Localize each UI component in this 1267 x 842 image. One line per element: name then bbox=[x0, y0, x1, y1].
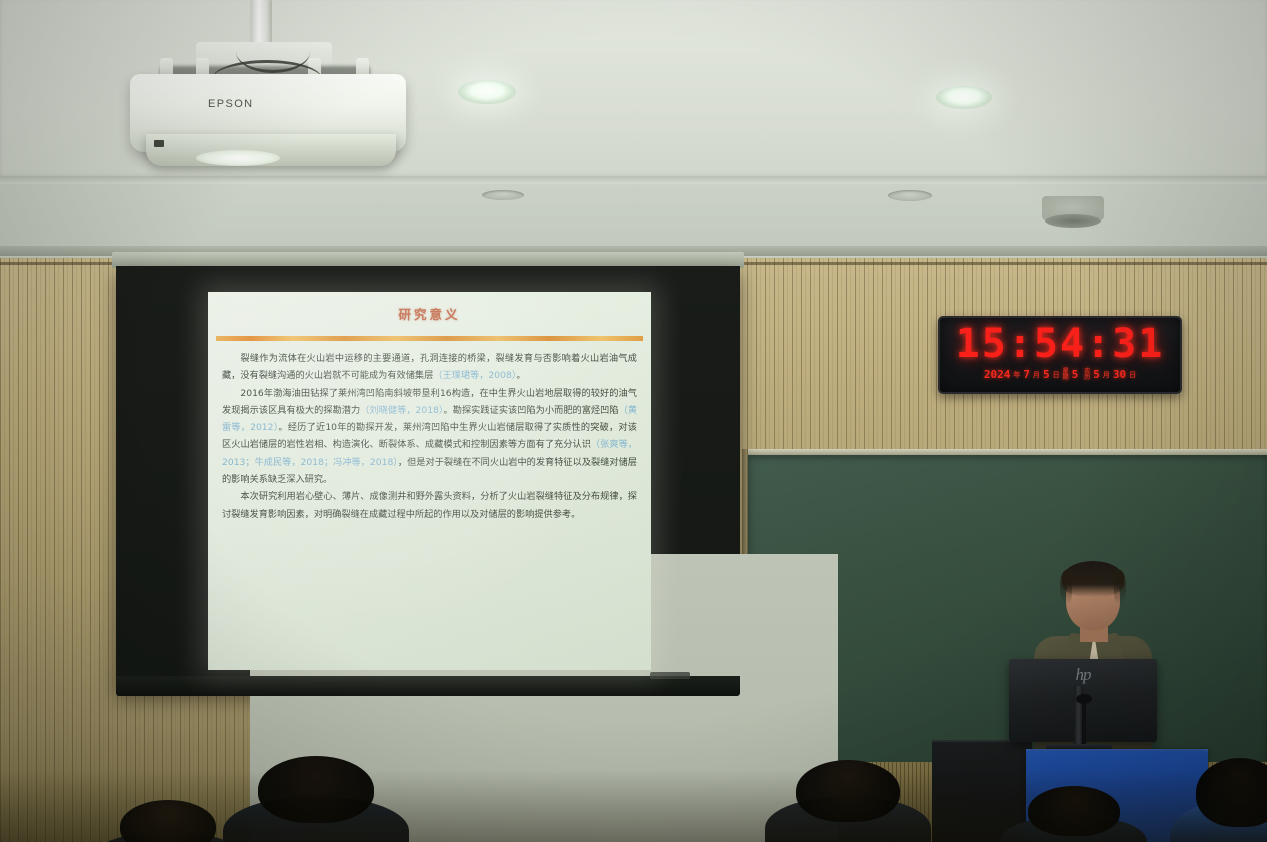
microphone-icon bbox=[1076, 694, 1092, 704]
audience-member bbox=[258, 756, 374, 834]
audience-member bbox=[1196, 758, 1267, 838]
slide-paragraph: 2016年渤海油田钻探了莱州湾凹陷南斜坡带垦利16构造，在中生界火山岩地层取得的… bbox=[222, 385, 637, 489]
clock-day: 5 bbox=[1043, 368, 1050, 381]
audience-head bbox=[1196, 758, 1267, 827]
projector-lens bbox=[196, 150, 280, 166]
ceiling-downlight bbox=[936, 86, 992, 109]
ceiling-speaker-shadow bbox=[1045, 214, 1101, 228]
screen-weight-bar bbox=[116, 676, 740, 696]
slide-citation: （王璞珺等，2008） bbox=[433, 370, 516, 381]
led-wall-clock: 15:54:31 2024年7月5日星期5 农历5月30日 bbox=[938, 316, 1182, 394]
audience-member bbox=[796, 760, 900, 832]
clock-year-unit: 年 bbox=[1013, 370, 1020, 380]
slide-title: 研究意义 bbox=[208, 304, 651, 323]
clock-month-unit: 月 bbox=[1033, 370, 1040, 380]
slide-citation: （刘晓健等，2018） bbox=[360, 405, 443, 416]
slide-text-run: 。经历了近10年的勘探开发，莱州湾凹陷中生界火山岩储层取得了实质性的突破，对该区… bbox=[222, 422, 637, 450]
clock-lunar-day-unit: 日 bbox=[1129, 370, 1136, 380]
audience-head bbox=[1028, 786, 1120, 836]
slide-text-run: 本次研究利用岩心壁心、薄片、成像测井和野外露头资料，分析了火山岩裂缝特征及分布规… bbox=[222, 491, 637, 519]
slide-body-text: 裂缝作为流体在火山岩中运移的主要通道，孔洞连接的桥梁，裂缝发育与否影响着火山岩油… bbox=[222, 350, 637, 523]
clock-date-display: 2024年7月5日星期5 农历5月30日 bbox=[940, 368, 1180, 381]
speaker-hair-side bbox=[1060, 570, 1072, 604]
projector-brand-label: EPSON bbox=[208, 98, 254, 110]
clock-lunar-label: 农历 bbox=[1084, 369, 1090, 381]
speaker-hair-side bbox=[1114, 570, 1126, 604]
screen-pull-tab[interactable] bbox=[650, 672, 690, 679]
projector-pole bbox=[250, 0, 272, 46]
hp-logo-icon: hp bbox=[1009, 665, 1157, 685]
slide-paragraph: 裂缝作为流体在火山岩中运移的主要通道，孔洞连接的桥梁，裂缝发育与否影响着火山岩油… bbox=[222, 350, 637, 385]
clock-time-display: 15:54:31 bbox=[940, 321, 1180, 367]
ceiling-recessed-fitting bbox=[482, 190, 524, 200]
audience-member bbox=[120, 800, 216, 842]
audience-member bbox=[1028, 786, 1120, 842]
ceiling-step bbox=[0, 176, 1267, 184]
lecture-hall-photo: EPSON 研究意义 裂缝作为流体在火山岩中运移的主要通道，孔洞连接的桥梁，裂缝… bbox=[0, 0, 1267, 842]
clock-month: 7 bbox=[1023, 368, 1030, 381]
clock-year: 2024 bbox=[984, 368, 1011, 381]
slide-text-run: 。勘探实践证实该凹陷为小而肥的富烃凹陷 bbox=[444, 405, 619, 416]
clock-weekday-label: 星期 bbox=[1063, 369, 1069, 381]
audience-head bbox=[796, 760, 900, 822]
projected-slide: 研究意义 裂缝作为流体在火山岩中运移的主要通道，孔洞连接的桥梁，裂缝发育与否影响… bbox=[208, 292, 651, 670]
clock-lunar-day: 30 bbox=[1113, 368, 1126, 381]
audience-head bbox=[258, 756, 374, 823]
slide-text-run: 。 bbox=[516, 370, 525, 381]
slide-paragraph: 本次研究利用岩心壁心、薄片、成像测井和野外露头资料，分析了火山岩裂缝特征及分布规… bbox=[222, 488, 637, 523]
ceiling-recessed-fitting bbox=[888, 190, 932, 201]
slide-text-run: 裂缝作为流体在火山岩中运移的主要通道，孔洞连接的桥梁，裂缝发育与否影响着火山岩油… bbox=[222, 353, 637, 381]
ceiling-downlight bbox=[458, 80, 516, 104]
clock-day-unit: 日 bbox=[1053, 370, 1060, 380]
clock-lunar-month-unit: 月 bbox=[1103, 370, 1110, 380]
slide-title-divider bbox=[216, 336, 643, 341]
audience-head bbox=[120, 800, 216, 842]
clock-lunar-month: 5 bbox=[1093, 368, 1100, 381]
projector-vent-slot-icon bbox=[154, 140, 164, 147]
clock-weekday-value: 5 bbox=[1072, 368, 1079, 381]
